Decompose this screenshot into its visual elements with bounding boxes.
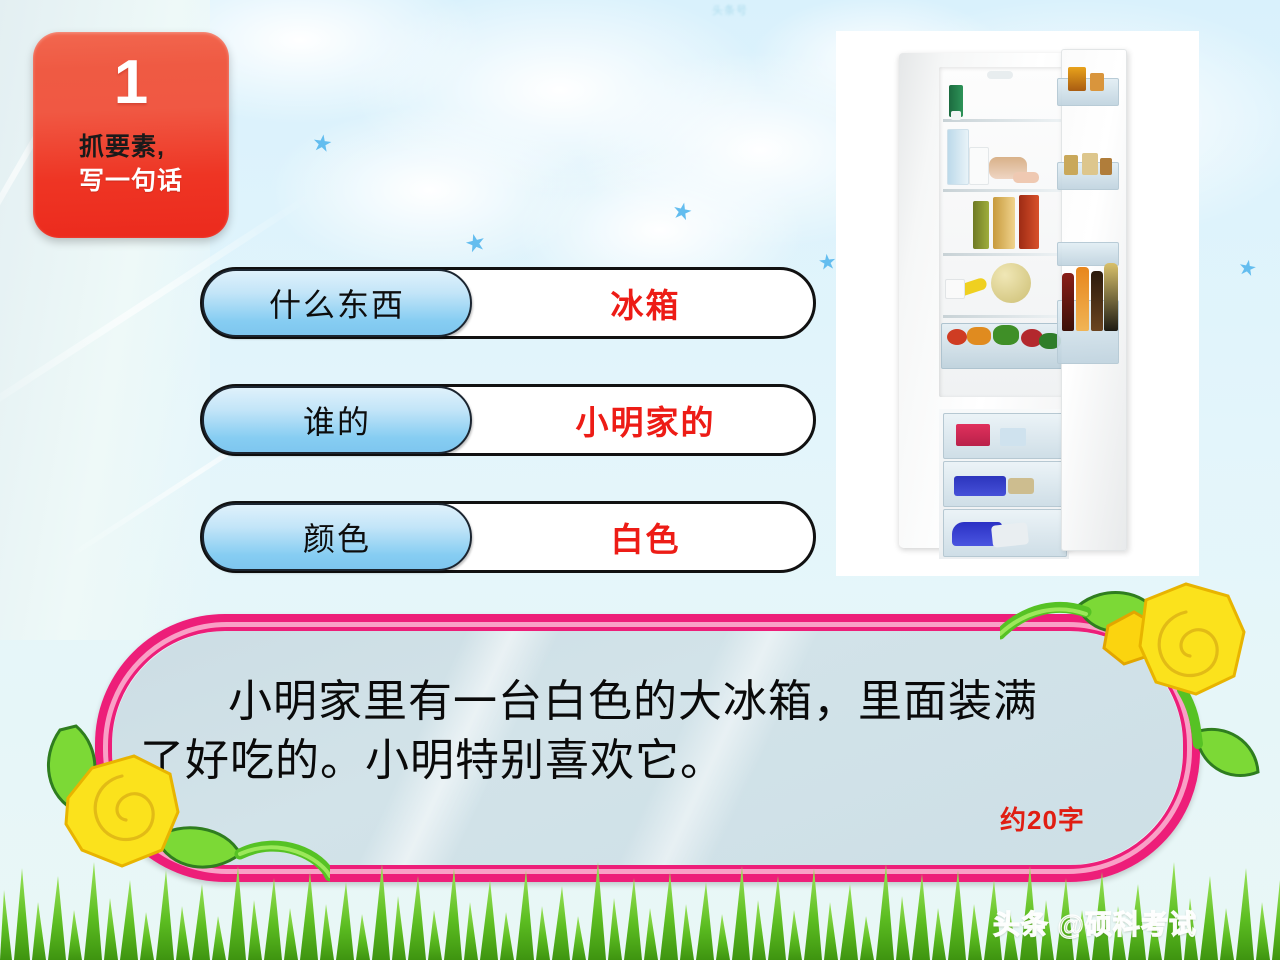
food-item: [1064, 155, 1078, 175]
row-answer-text: 冰箱: [475, 267, 816, 339]
fridge-freezer: [939, 409, 1069, 559]
food-item: [991, 522, 1029, 548]
food-item: [1104, 263, 1118, 331]
slide-root: ★ ★ ★ ★ ★ ★ 头条号 1 抓要素, 写一句话 什么东西 冰箱 谁的 小…: [0, 0, 1280, 960]
row-label-pill[interactable]: 颜色: [202, 503, 472, 571]
fridge-body: [899, 53, 1073, 548]
food-item: [1082, 153, 1098, 175]
rose-decoration-top-right: [1000, 572, 1280, 822]
food-item: [1068, 67, 1086, 91]
food-item: [1100, 158, 1112, 175]
food-item: [947, 329, 967, 345]
food-item: [954, 476, 1006, 496]
fridge-compartment: [939, 67, 1069, 397]
row-answer-text: 白色: [475, 501, 816, 573]
open-refrigerator-photo: [836, 31, 1199, 576]
fridge-door: [1061, 49, 1127, 551]
food-item: [1008, 478, 1034, 494]
food-item: [1000, 428, 1026, 446]
badge-line-2: 写一句话: [79, 164, 183, 198]
food-item: [973, 201, 989, 249]
food-item: [1091, 271, 1103, 331]
door-bin: [1057, 78, 1119, 106]
food-item: [967, 327, 991, 345]
food-item: [1019, 195, 1039, 249]
food-item: [1090, 73, 1104, 91]
step-number-badge: 1 抓要素, 写一句话: [33, 32, 229, 238]
star-icon: ★: [310, 131, 334, 157]
food-item: [993, 325, 1019, 345]
food-item: [1076, 267, 1089, 331]
row-answer-text: 小明家的: [475, 384, 816, 456]
question-row[interactable]: 什么东西 冰箱: [200, 267, 816, 339]
badge-text: 抓要素, 写一句话: [79, 130, 183, 198]
star-icon: ★: [817, 251, 838, 274]
row-label-text: 颜色: [303, 514, 371, 560]
food-item: [945, 279, 965, 299]
door-bin: [1057, 162, 1119, 190]
fridge-light: [987, 71, 1013, 79]
food-item: [947, 129, 969, 185]
food-item: [991, 263, 1031, 303]
door-bin: [1057, 300, 1119, 364]
freezer-drawer: [943, 509, 1067, 557]
food-item: [951, 111, 961, 120]
channel-watermark: 头条 @硕科考试: [993, 903, 1197, 942]
star-icon: ★: [1236, 257, 1258, 281]
food-item: [956, 424, 990, 446]
question-row[interactable]: 谁的 小明家的: [200, 384, 816, 456]
top-watermark: 头条号: [712, 2, 748, 18]
food-item: [969, 147, 989, 185]
food-item: [1013, 172, 1039, 183]
badge-number: 1: [114, 52, 148, 114]
row-label-pill[interactable]: 什么东西: [202, 269, 472, 337]
row-label-text: 谁的: [303, 397, 371, 443]
row-label-pill[interactable]: 谁的: [202, 386, 472, 454]
question-row[interactable]: 颜色 白色: [200, 501, 816, 573]
food-item: [1062, 273, 1074, 331]
row-label-text: 什么东西: [269, 280, 405, 326]
freezer-drawer: [943, 413, 1067, 459]
freezer-drawer: [943, 461, 1067, 507]
badge-line-1: 抓要素,: [79, 130, 183, 164]
food-item: [993, 197, 1015, 249]
